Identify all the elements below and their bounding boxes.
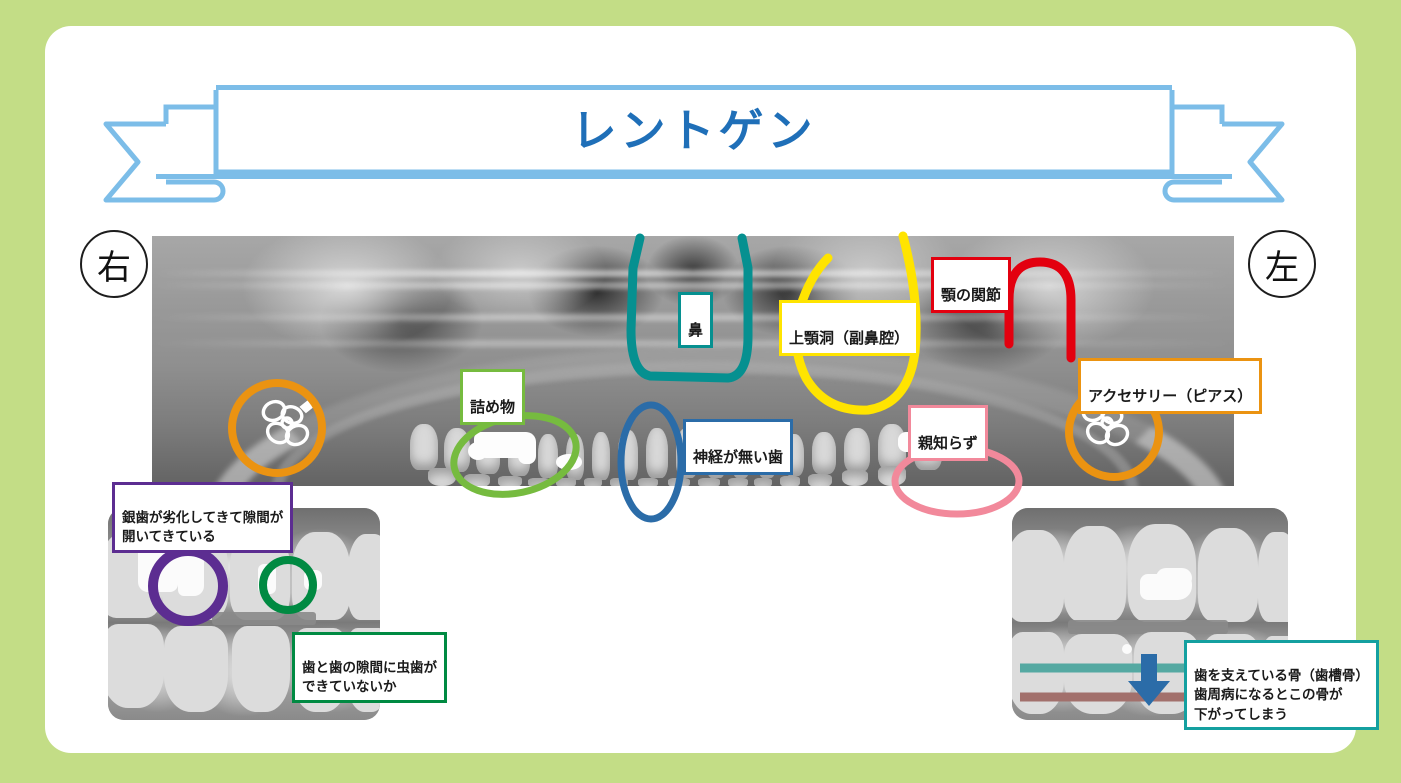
callout-accessory: アクセサリー（ピアス） [1078,358,1262,414]
callout-alveolar-bone-label: 歯を支えている骨（歯槽骨） 歯周病になるとこの骨が 下がってしまう [1194,668,1369,722]
callout-maxillary-sinus: 上顎洞（副鼻腔） [779,300,919,356]
callout-nerveless-tooth: 神経が無い歯 [683,419,793,475]
left-side-marker: 左 [1248,230,1316,298]
callout-nose: 鼻 [678,292,713,348]
right-side-label: 右 [97,240,131,289]
page-title: レントゲン [96,92,1292,170]
callout-accessory-label: アクセサリー（ピアス） [1088,388,1252,405]
callout-nose-label: 鼻 [688,322,703,339]
callout-jaw-joint-label: 顎の関節 [941,287,1001,304]
callout-interproximal-caries-label: 歯と歯の隙間に虫歯が できていないか [302,660,437,695]
right-side-marker: 右 [80,230,148,298]
callout-nerveless-tooth-label: 神経が無い歯 [693,449,783,466]
callout-silver-crown: 銀歯が劣化してきて隙間が 開いてきている [112,482,293,553]
callout-maxillary-sinus-label: 上顎洞（副鼻腔） [789,330,909,347]
callout-interproximal-caries: 歯と歯の隙間に虫歯が できていないか [292,632,447,703]
callout-wisdom-tooth-label: 親知らず [918,435,978,452]
callout-jaw-joint: 顎の関節 [931,257,1011,313]
callout-filling-label: 詰め物 [470,399,515,416]
callout-filling: 詰め物 [460,369,525,425]
callout-wisdom-tooth: 親知らず [908,405,988,461]
callout-alveolar-bone: 歯を支えている骨（歯槽骨） 歯周病になるとこの骨が 下がってしまう [1184,640,1379,730]
slide-canvas: レントゲン 右 左 [0,0,1401,783]
left-side-label: 左 [1265,240,1299,289]
callout-silver-crown-label: 銀歯が劣化してきて隙間が 開いてきている [122,510,283,545]
